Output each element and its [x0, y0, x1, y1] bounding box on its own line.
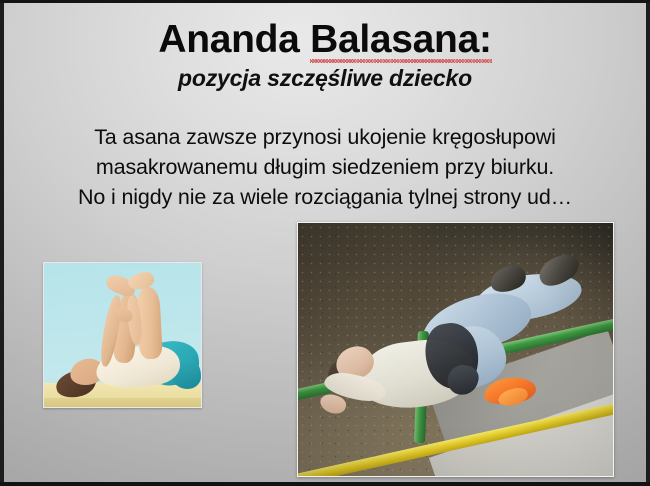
photo-vignette [298, 223, 613, 476]
title-misspelled-word: Balasana: [310, 20, 492, 61]
body-line-2: masakrowanemu długim siedzeniem przy biu… [0, 152, 650, 182]
presentation-slide: Ananda Balasana: pozycja szczęśliwe dzie… [0, 0, 650, 486]
yoga-photo-content [44, 263, 201, 407]
page-title: Ananda Balasana: [158, 20, 491, 61]
page-subtitle: pozycja szczęśliwe dziecko [0, 65, 650, 92]
title-plain-part: Ananda [158, 18, 310, 61]
railing-photo-content [298, 223, 613, 476]
title-block: Ananda Balasana: pozycja szczęśliwe dzie… [0, 20, 650, 92]
body-line-1: Ta asana zawsze przynosi ukojenie kręgos… [0, 122, 650, 152]
man-over-railing-photo [297, 222, 614, 477]
body-text-block: Ta asana zawsze przynosi ukojenie kręgos… [0, 122, 650, 212]
yoga-happy-baby-photo [43, 262, 202, 408]
body-line-3: No i nigdy nie za wiele rozciągania tyln… [0, 182, 650, 212]
yoga-mat-shadow [44, 398, 201, 407]
